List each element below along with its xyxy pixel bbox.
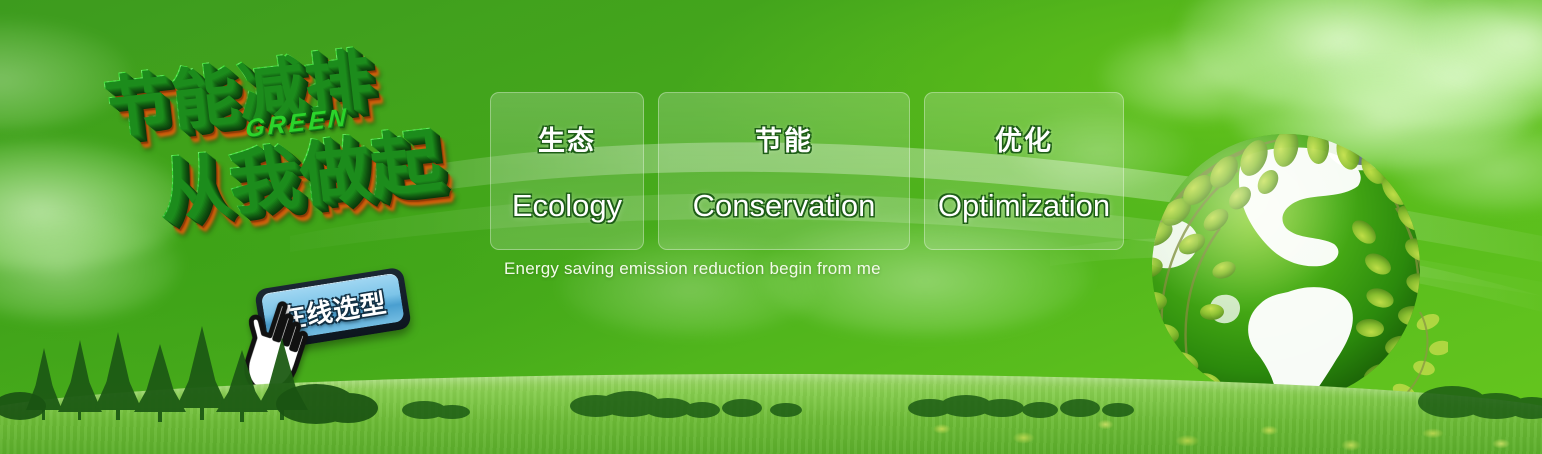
headline-3d: 节能减排 GREEN 从我做起	[84, 13, 498, 286]
feature-card-list: 生态 Ecology 节能 Conservation 优化 Optimizati…	[490, 92, 1124, 250]
feature-card-optimization[interactable]: 优化 Optimization	[924, 92, 1124, 250]
cloud-icon	[560, 235, 820, 335]
cloud-icon	[1180, 0, 1510, 110]
online-selection-button[interactable]: 在线选型	[254, 267, 412, 352]
cloud-icon	[1230, 60, 1530, 170]
feature-card-conservation[interactable]: 节能 Conservation	[658, 92, 910, 250]
headline-line-1: 节能减排	[98, 25, 375, 151]
cloud-icon	[0, 140, 190, 270]
feature-card-title-cn: 优化	[995, 119, 1053, 158]
feature-card-ecology[interactable]: 生态 Ecology	[490, 92, 644, 250]
feature-card-title-en: Conservation	[693, 188, 876, 224]
feature-card-title-en: Ecology	[512, 188, 622, 224]
feature-card-title-cn: 生态	[538, 119, 596, 158]
cloud-icon	[1320, 10, 1542, 130]
tagline-text: Energy saving emission reduction begin f…	[504, 259, 881, 279]
button-label: 在线选型	[254, 267, 412, 352]
cloud-icon	[0, 210, 180, 320]
cloud-icon	[1420, 0, 1542, 90]
cloud-icon	[0, 20, 130, 130]
headline-line-2: 从我做起	[152, 104, 446, 237]
cloud-icon	[1390, 120, 1542, 210]
feature-card-title-cn: 节能	[755, 119, 813, 158]
headline-accent-green: GREEN	[245, 103, 349, 144]
feature-card-title-en: Optimization	[938, 188, 1110, 224]
green-promo-banner: 节能减排 GREEN 从我做起 在线选型 生态 Ecology 节能 Conse…	[0, 0, 1542, 454]
cloud-icon	[1100, 30, 1300, 120]
